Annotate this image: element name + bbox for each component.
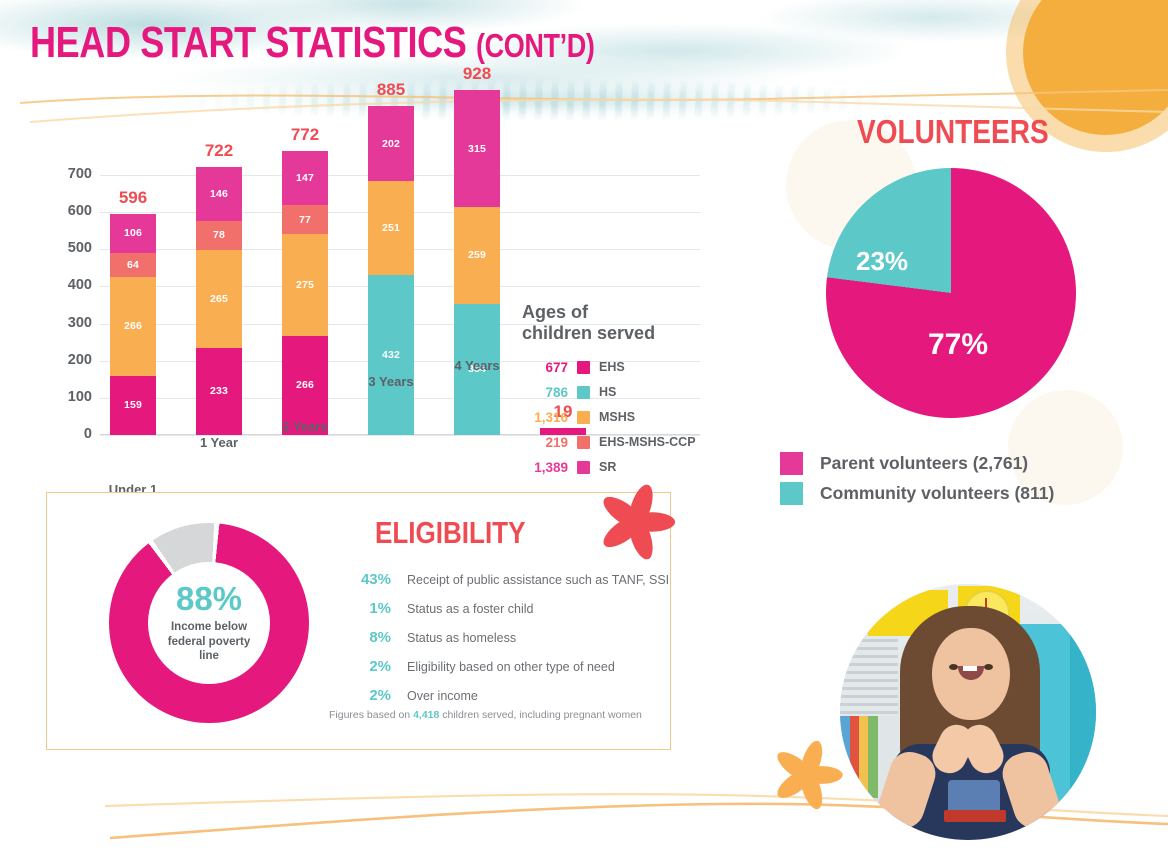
bar-segment[interactable]: 315: [454, 90, 500, 207]
legend-label: EHS: [599, 360, 625, 374]
bar-segment[interactable]: 275: [282, 234, 328, 336]
bar-segment-value: 266: [296, 380, 314, 391]
volunteers-pie-chart: 23% 77%: [826, 168, 1076, 418]
legend-color-swatch: [577, 386, 590, 399]
eligibility-row: 2%Eligibility based on other type of nee…: [347, 658, 657, 675]
eligibility-row: 43%Receipt of public assistance such as …: [347, 571, 657, 588]
photo-shirt-text: [944, 810, 1006, 822]
legend-row[interactable]: 677EHS: [522, 356, 707, 378]
legend-value: 1,389: [522, 460, 568, 475]
bar-segment-value: 78: [213, 230, 225, 241]
y-axis-tick: 500: [36, 240, 92, 256]
eligibility-percent: 8%: [347, 629, 391, 646]
bar-segment-value: 147: [296, 173, 314, 184]
eligibility-list: 43%Receipt of public assistance such as …: [347, 571, 657, 716]
eligibility-text: Status as homeless: [407, 631, 516, 645]
bar-segment-value: 265: [210, 294, 228, 305]
y-axis-tick: 200: [36, 352, 92, 368]
photo-shirt-logo: [948, 780, 1000, 814]
photo-teal-edge: [1070, 624, 1096, 814]
eligibility-row: 8%Status as homeless: [347, 629, 657, 646]
bar-total-label: 885: [377, 80, 405, 100]
eligibility-row: 1%Status as a foster child: [347, 600, 657, 617]
bar-segment-value: 233: [210, 386, 228, 397]
bar-segment-value: 315: [468, 144, 486, 155]
legend-value: 1,316: [522, 410, 568, 425]
bar-segment[interactable]: 265: [196, 250, 242, 348]
bar-segment-value: 251: [382, 223, 400, 234]
bar-segment-value: 64: [127, 260, 139, 271]
bar-column[interactable]: 146782652337221 Year: [196, 167, 242, 435]
bar-segment[interactable]: 147: [282, 151, 328, 206]
red-flower-decoration: [596, 482, 676, 562]
eligibility-donut-chart: 88% Income below federal poverty line: [109, 523, 309, 723]
x-axis-label: 1 Year: [200, 435, 238, 451]
bar-segment[interactable]: 251: [368, 181, 414, 274]
eligibility-percent: 43%: [347, 571, 391, 588]
bar-column[interactable]: 10664266159596Under 1: [110, 214, 156, 435]
bar-column[interactable]: 3152593549284 Years: [454, 90, 500, 435]
bar-total-label: 722: [205, 141, 233, 161]
bar-segment[interactable]: 202: [368, 106, 414, 181]
footnote-number: 4,418: [413, 709, 439, 721]
eligibility-percent: 1%: [347, 600, 391, 617]
y-axis-tick: 700: [36, 166, 92, 182]
donut-caption-line3: line: [168, 649, 250, 664]
x-axis-label: 4 Years: [454, 358, 499, 374]
legend-value: 677: [522, 360, 568, 375]
x-axis-label: 3 Years: [368, 374, 413, 390]
legend-row[interactable]: 786HS: [522, 381, 707, 403]
bar-segment-value: 106: [124, 228, 142, 239]
eligibility-title: ELIGIBILITY: [375, 515, 525, 551]
y-axis-tick: 100: [36, 389, 92, 405]
bar-segment-value: 146: [210, 189, 228, 200]
bar-total-label: 772: [291, 125, 319, 145]
eligibility-percent: 2%: [347, 687, 391, 704]
volunteer-legend-label: Parent volunteers (2,761): [820, 453, 1028, 474]
pie-slice-label-parent: 77%: [928, 328, 988, 362]
legend-label: EHS-MSHS-CCP: [599, 435, 696, 449]
eligibility-percent: 2%: [347, 658, 391, 675]
bar-total-label: 596: [119, 188, 147, 208]
y-axis-tick: 400: [36, 277, 92, 293]
eligibility-text: Over income: [407, 689, 478, 703]
bar-segment-value: 202: [382, 139, 400, 150]
legend-row[interactable]: 1,316MSHS: [522, 406, 707, 428]
legend-value: 219: [522, 435, 568, 450]
page-title: HEAD START STATISTICS (CONT’D): [30, 18, 594, 68]
legend-label: SR: [599, 460, 616, 474]
donut-caption: Income below federal poverty line: [168, 620, 250, 664]
footnote-suffix: children served, including pregnant wome…: [439, 709, 642, 721]
bar-chart-legend: Ages of children served 677EHS786HS1,316…: [522, 302, 707, 481]
volunteers-legend: Parent volunteers (2,761)Community volun…: [780, 448, 1054, 508]
eligibility-row: 2%Over income: [347, 687, 657, 704]
page-title-main: HEAD START STATISTICS: [30, 18, 466, 67]
y-axis-tick: 0: [36, 426, 92, 442]
volunteer-legend-row[interactable]: Community volunteers (811): [780, 478, 1054, 508]
eligibility-text: Status as a foster child: [407, 602, 533, 616]
footnote-prefix: Figures based on: [329, 709, 413, 721]
ages-of-children-bar-chart: 7006005004003002001000 10664266159596Und…: [34, 130, 674, 485]
bar-segment[interactable]: 259: [454, 207, 500, 303]
bar-segment-value: 275: [296, 280, 314, 291]
page-title-sub: (CONT’D): [476, 27, 594, 64]
bar-segment[interactable]: 233: [196, 348, 242, 435]
eligibility-text: Eligibility based on other type of need: [407, 660, 615, 674]
legend-color-swatch: [577, 461, 590, 474]
x-axis-label: 2 Years: [282, 419, 327, 435]
bar-chart-y-axis: 7006005004003002001000: [34, 175, 92, 435]
eligibility-footnote: Figures based on 4,418 children served, …: [329, 709, 642, 721]
bar-column[interactable]: 147772752667722 Years: [282, 151, 328, 435]
bar-segment-value: 77: [299, 215, 311, 226]
legend-label: HS: [599, 385, 616, 399]
bar-segment[interactable]: 77: [282, 205, 328, 234]
bar-segment-value: 432: [382, 350, 400, 361]
student-photo: [840, 584, 1096, 840]
legend-title-line2: children served: [522, 323, 707, 344]
legend-row[interactable]: 1,389SR: [522, 456, 707, 478]
legend-color-swatch: [577, 436, 590, 449]
legend-title-line1: Ages of: [522, 302, 707, 323]
y-axis-tick: 300: [36, 315, 92, 331]
bar-column[interactable]: 2022514328853 Years: [368, 106, 414, 435]
photo-heart-hands: [936, 724, 1000, 780]
infographic-page: HEAD START STATISTICS (CONT’D) 700600500…: [0, 0, 1168, 865]
photo-window-blinds: [840, 626, 898, 724]
bar-segment[interactable]: 432: [368, 275, 414, 435]
orange-flower-decoration: [770, 738, 844, 812]
bar-segment[interactable]: 78: [196, 221, 242, 250]
donut-percent: 88%: [176, 582, 242, 615]
bar-segment[interactable]: 106: [110, 214, 156, 253]
legend-color-swatch: [577, 361, 590, 374]
legend-color-swatch: [577, 411, 590, 424]
bar-total-label: 928: [463, 64, 491, 84]
eligibility-card: 88% Income below federal poverty line EL…: [46, 492, 671, 750]
bar-segment-value: 259: [468, 250, 486, 261]
donut-caption-line1: Income below: [168, 620, 250, 635]
volunteer-legend-label: Community volunteers (811): [820, 483, 1054, 504]
bar-segment-value: 159: [124, 400, 142, 411]
bar-segment[interactable]: 146: [196, 167, 242, 221]
legend-label: MSHS: [599, 410, 635, 424]
legend-value: 786: [522, 385, 568, 400]
donut-caption-line2: federal poverty: [168, 635, 250, 650]
photo-girl-eye-right: [984, 664, 993, 670]
photo-girl-eye-left: [949, 664, 958, 670]
volunteer-legend-swatch: [780, 452, 803, 475]
bar-segment[interactable]: 266: [110, 277, 156, 376]
bar-segment[interactable]: 159: [110, 376, 156, 435]
legend-row[interactable]: 219EHS-MSHS-CCP: [522, 431, 707, 453]
pie-slice-label-community: 23%: [856, 246, 908, 277]
bar-chart-legend-title: Ages of children served: [522, 302, 707, 344]
volunteer-legend-swatch: [780, 482, 803, 505]
bar-segment[interactable]: 64: [110, 253, 156, 277]
volunteer-legend-row[interactable]: Parent volunteers (2,761): [780, 448, 1054, 478]
donut-center-label: 88% Income below federal poverty line: [148, 562, 270, 684]
volunteers-title: VOLUNTEERS: [857, 113, 1049, 151]
bar-chart-plot-area: 10664266159596Under 1146782652337221 Yea…: [100, 175, 500, 435]
y-axis-tick: 600: [36, 203, 92, 219]
eligibility-text: Receipt of public assistance such as TAN…: [407, 573, 669, 587]
bar-segment-value: 266: [124, 321, 142, 332]
